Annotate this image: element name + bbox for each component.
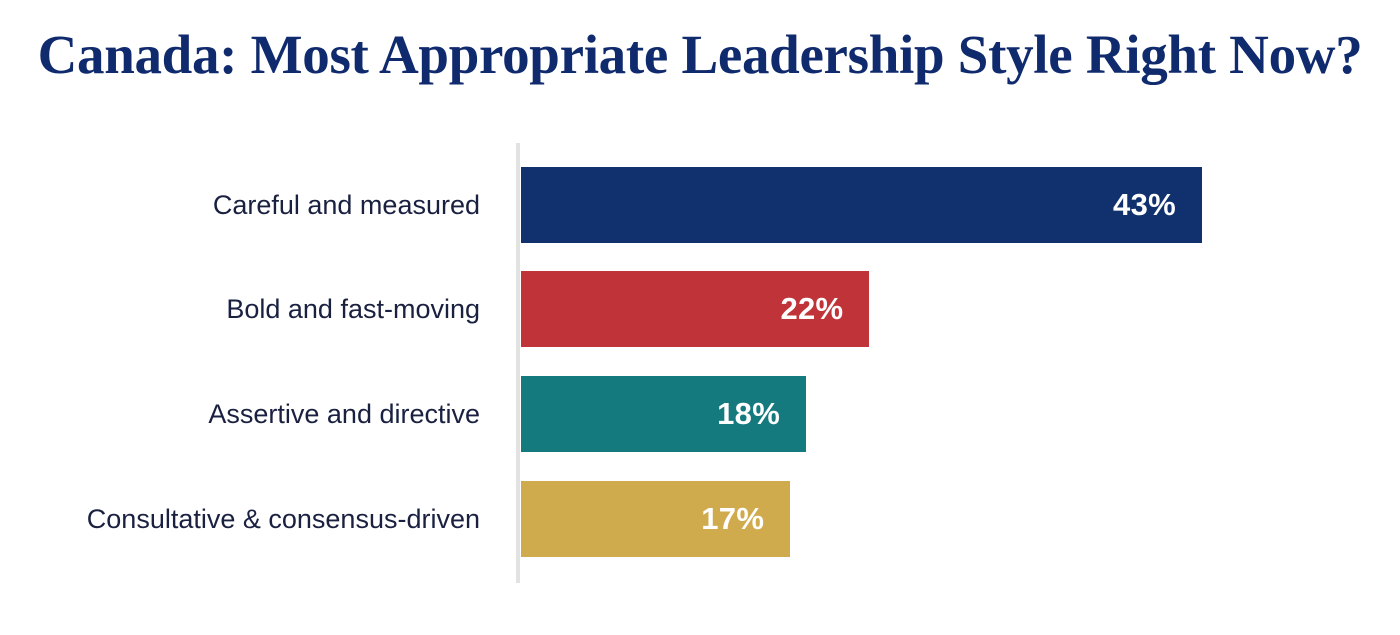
bar-row: Assertive and directive 18% [0, 376, 1400, 452]
bar-row: Bold and fast-moving 22% [0, 271, 1400, 347]
bar-bold-and-fast-moving[interactable]: 22% [521, 271, 869, 347]
category-label: Assertive and directive [208, 376, 480, 452]
bar-value-label: 17% [701, 481, 764, 557]
bar-value-label: 22% [780, 271, 843, 347]
category-label: Bold and fast-moving [226, 271, 480, 347]
bar-chart-plot-area: Careful and measured 43% Bold and fast-m… [0, 0, 1400, 635]
category-label: Careful and measured [213, 167, 480, 243]
bar-consultative-and-consensus-driven[interactable]: 17% [521, 481, 790, 557]
bar-value-label: 43% [1113, 167, 1176, 243]
bar-row: Careful and measured 43% [0, 167, 1400, 243]
chart-slide: Canada: Most Appropriate Leadership Styl… [0, 0, 1400, 635]
bar-value-label: 18% [717, 376, 780, 452]
bar-row: Consultative & consensus-driven 17% [0, 481, 1400, 557]
bar-assertive-and-directive[interactable]: 18% [521, 376, 806, 452]
category-label: Consultative & consensus-driven [87, 481, 480, 557]
bar-careful-and-measured[interactable]: 43% [521, 167, 1202, 243]
